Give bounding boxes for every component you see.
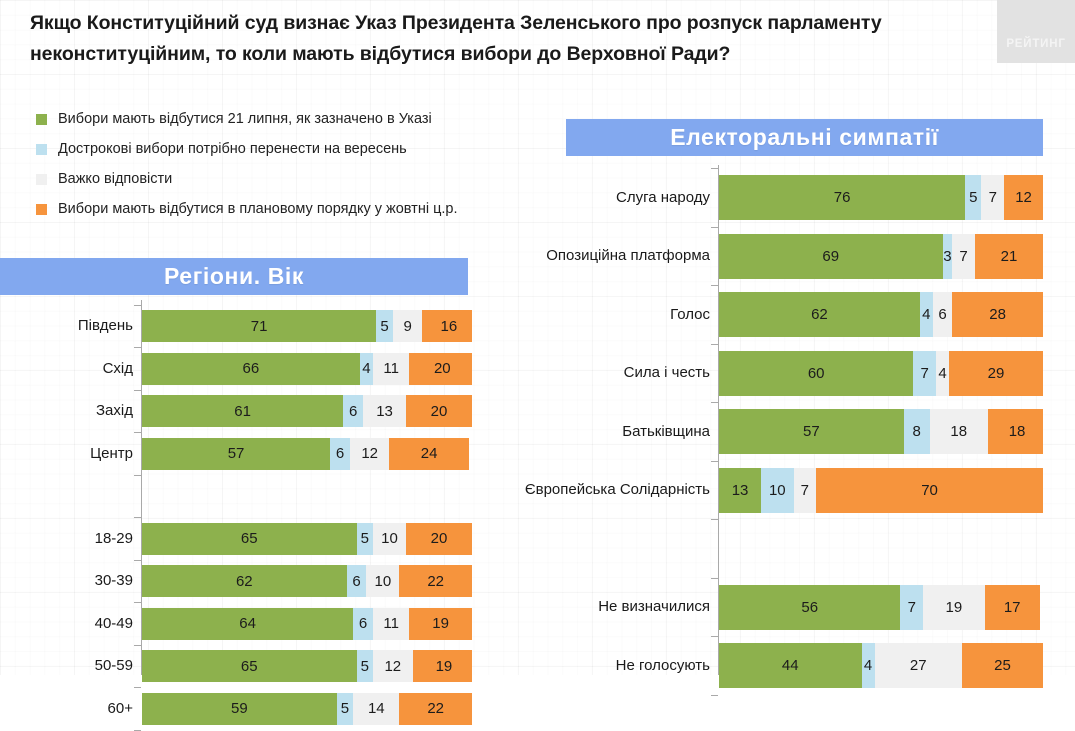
bar-segment: 18 [930, 409, 988, 454]
bar-segment-value: 25 [994, 657, 1011, 674]
bar-segment: 5 [357, 650, 374, 682]
bar-segment: 20 [409, 353, 472, 385]
axis-tick [711, 695, 718, 696]
bar-segment-value: 65 [241, 530, 258, 547]
axis-tick [134, 390, 141, 391]
legend-item: Вибори мають відбутися в плановому поряд… [36, 194, 506, 224]
bar-segment: 7 [952, 234, 975, 279]
axis-tick [711, 168, 718, 169]
category-label: 60+ [0, 701, 133, 716]
bar-segment: 62 [142, 565, 347, 597]
stacked-bar: 1310770 [719, 468, 1043, 513]
bar-segment-value: 19 [946, 599, 963, 616]
bar-segment-value: 8 [912, 423, 920, 440]
bar-segment: 27 [875, 643, 962, 688]
stacked-bar: 6551020 [142, 523, 472, 555]
axis-tick [711, 461, 718, 462]
rating-logo-label: РЕЙТИНГ [997, 38, 1075, 50]
bar-segment-value: 12 [361, 445, 378, 462]
category-label: Опозиційна платформа [500, 248, 710, 263]
bar-segment-value: 62 [811, 306, 828, 323]
legend-swatch-icon [36, 114, 47, 125]
bar-segment-value: 5 [361, 530, 369, 547]
bar-segment-value: 18 [950, 423, 967, 440]
bar-segment: 12 [350, 438, 390, 470]
bar-segment-value: 19 [432, 615, 449, 632]
bar-segment: 4 [920, 292, 933, 337]
bar-segment: 44 [719, 643, 862, 688]
bar-segment-value: 76 [834, 189, 851, 206]
bar-segment: 25 [962, 643, 1043, 688]
stacked-bar: 6551219 [142, 650, 472, 682]
section-banner-electoral-sympathies-label: Електоральні симпатії [670, 124, 939, 151]
bar-segment-value: 44 [782, 657, 799, 674]
bar-segment: 10 [761, 468, 793, 513]
bar-segment: 18 [988, 409, 1043, 454]
bar-segment: 20 [406, 395, 472, 427]
bar-segment-value: 12 [384, 658, 401, 675]
category-label: 40-49 [0, 616, 133, 631]
bar-segment: 13 [363, 395, 406, 427]
legend-item: Важко відповісти [36, 164, 506, 194]
bar-segment-value: 65 [241, 658, 258, 675]
bar-segment-value: 4 [362, 360, 370, 377]
bar-segment: 7 [794, 468, 817, 513]
page-title: Якщо Конституційний суд визнає Указ През… [30, 8, 990, 70]
bar-segment: 57 [142, 438, 330, 470]
legend-swatch-icon [36, 204, 47, 215]
axis-tick [134, 347, 141, 348]
bar-segment: 7 [913, 351, 936, 396]
category-label: Голос [500, 307, 710, 322]
bar-segment-value: 4 [938, 365, 946, 382]
stacked-bar: 765712 [719, 175, 1043, 220]
stacked-bar: 693721 [719, 234, 1043, 279]
bar-segment-value: 60 [808, 365, 825, 382]
axis-tick [711, 519, 718, 520]
bar-segment: 14 [353, 693, 399, 725]
bar-segment: 13 [719, 468, 761, 513]
bar-segment-value: 9 [403, 318, 411, 335]
bar-segment-value: 13 [732, 482, 749, 499]
bar-segment-value: 27 [910, 657, 927, 674]
axis-tick [711, 227, 718, 228]
chart-legend: Вибори мають відбутися 21 липня, як зазн… [36, 104, 506, 224]
bar-segment: 66 [142, 353, 360, 385]
bar-segment: 11 [373, 608, 409, 640]
bar-segment-value: 14 [368, 700, 385, 717]
bar-segment: 19 [923, 585, 985, 630]
bar-segment: 29 [949, 351, 1043, 396]
slide-stage: Якщо Конституційний суд визнає Указ През… [0, 0, 1075, 675]
bar-segment-value: 64 [239, 615, 256, 632]
legend-item-label: Вибори мають відбутися в плановому поряд… [58, 201, 458, 217]
bar-segment-value: 10 [769, 482, 786, 499]
category-label: Батьківщина [500, 424, 710, 439]
bar-segment: 60 [719, 351, 913, 396]
category-label: 30-39 [0, 573, 133, 588]
bar-segment-value: 29 [988, 365, 1005, 382]
legend-item-label: Дострокові вибори потрібно перенести на … [58, 141, 407, 157]
category-label: 18-29 [0, 531, 133, 546]
bar-segment-value: 12 [1015, 189, 1032, 206]
stacked-bar: 5671917 [719, 585, 1043, 630]
bar-segment-value: 3 [943, 248, 951, 265]
bar-segment-value: 20 [434, 360, 451, 377]
bar-segment: 6 [353, 608, 373, 640]
stacked-bar: 6461119 [142, 608, 472, 640]
bar-segment: 4 [862, 643, 875, 688]
chart-electoral-sympathies: Слуга народу765712Опозиційна платформа69… [500, 165, 1075, 675]
bar-segment: 10 [373, 523, 406, 555]
bar-segment: 56 [719, 585, 900, 630]
axis-tick [134, 305, 141, 306]
bar-segment: 4 [936, 351, 949, 396]
bar-segment: 62 [719, 292, 920, 337]
bar-segment-value: 22 [427, 573, 444, 590]
bar-segment: 11 [373, 353, 409, 385]
legend-item-label: Важко відповісти [58, 171, 172, 187]
category-label: Слуга народу [500, 190, 710, 205]
bar-segment: 22 [399, 693, 472, 725]
bar-segment-value: 4 [922, 306, 930, 323]
bar-segment: 6 [347, 565, 367, 597]
bar-segment: 7 [900, 585, 923, 630]
bar-segment: 6 [330, 438, 350, 470]
bar-segment-value: 16 [441, 318, 458, 335]
bar-segment: 21 [975, 234, 1043, 279]
axis-tick [711, 285, 718, 286]
bar-segment: 5 [376, 310, 393, 342]
category-label: Захід [0, 403, 133, 418]
section-banner-regions-age: Регіони. Вік [0, 258, 468, 295]
bar-segment: 5 [357, 523, 374, 555]
stacked-bar: 5781818 [719, 409, 1043, 454]
bar-segment: 10 [366, 565, 399, 597]
stacked-bar: 6641120 [142, 353, 472, 385]
bar-segment: 12 [373, 650, 413, 682]
bar-segment: 16 [422, 310, 472, 342]
bar-segment-value: 19 [436, 658, 453, 675]
bar-segment: 59 [142, 693, 337, 725]
stacked-bar: 607429 [719, 351, 1043, 396]
bar-segment-value: 70 [921, 482, 938, 499]
section-banner-electoral-sympathies: Електоральні симпатії [566, 119, 1043, 156]
bar-segment-value: 7 [801, 482, 809, 499]
bar-segment: 7 [981, 175, 1004, 220]
bar-segment-value: 11 [383, 615, 399, 632]
bar-segment-value: 11 [383, 360, 399, 377]
bar-segment: 24 [389, 438, 468, 470]
bar-segment: 22 [399, 565, 472, 597]
bar-segment-value: 18 [1009, 423, 1026, 440]
category-label: Сила і честь [500, 365, 710, 380]
bar-segment: 3 [943, 234, 953, 279]
bar-segment-value: 5 [380, 318, 388, 335]
bar-segment: 76 [719, 175, 965, 220]
bar-segment-value: 7 [921, 365, 929, 382]
axis-tick [134, 517, 141, 518]
legend-item-label: Вибори мають відбутися 21 липня, як зазн… [58, 111, 432, 127]
bar-segment: 5 [337, 693, 354, 725]
axis-tick [711, 636, 718, 637]
bar-segment-value: 5 [361, 658, 369, 675]
stacked-bar: 5761224 [142, 438, 472, 470]
bar-segment-value: 28 [989, 306, 1006, 323]
bar-segment: 69 [719, 234, 943, 279]
bar-segment: 9 [393, 310, 423, 342]
bar-segment-value: 66 [243, 360, 260, 377]
axis-tick [711, 402, 718, 403]
bar-segment: 6 [933, 292, 952, 337]
bar-segment: 12 [1004, 175, 1043, 220]
bar-segment: 64 [142, 608, 353, 640]
axis-tick [134, 475, 141, 476]
bar-segment-value: 10 [381, 530, 398, 547]
stacked-bar: 6261022 [142, 565, 472, 597]
axis-tick [134, 432, 141, 433]
bar-segment: 20 [406, 523, 472, 555]
bar-segment: 70 [816, 468, 1043, 513]
bar-segment-value: 5 [341, 700, 349, 717]
bar-segment-value: 61 [234, 403, 251, 420]
bar-segment-value: 7 [989, 189, 997, 206]
category-label: Південь [0, 318, 133, 333]
bar-segment-value: 20 [431, 530, 448, 547]
bar-segment-value: 20 [431, 403, 448, 420]
stacked-bar: 715916 [142, 310, 472, 342]
axis-tick [134, 560, 141, 561]
stacked-bar: 624628 [719, 292, 1043, 337]
bar-segment: 8 [904, 409, 930, 454]
bar-segment: 28 [952, 292, 1043, 337]
bar-segment: 61 [142, 395, 343, 427]
category-label: Центр [0, 446, 133, 461]
bar-segment-value: 59 [231, 700, 248, 717]
bar-segment-value: 7 [908, 599, 916, 616]
section-banner-regions-age-label: Регіони. Вік [164, 263, 304, 290]
stacked-bar: 4442725 [719, 643, 1043, 688]
axis-tick [711, 578, 718, 579]
bar-segment-value: 22 [427, 700, 444, 717]
rating-logo: РЕЙТИНГ [997, 0, 1075, 63]
bar-segment-value: 56 [801, 599, 818, 616]
axis-tick [134, 687, 141, 688]
bar-segment-value: 62 [236, 573, 253, 590]
bar-segment-value: 57 [803, 423, 820, 440]
bar-segment: 71 [142, 310, 376, 342]
category-label: Не визначилися [500, 599, 710, 614]
category-label: Схід [0, 361, 133, 376]
bar-segment-value: 6 [352, 573, 360, 590]
page-title-line-1: Якщо Конституційний суд визнає Указ През… [30, 8, 990, 39]
page-title-line-2: неконституційним, то коли мають відбутис… [30, 39, 990, 70]
bar-segment: 17 [985, 585, 1040, 630]
bar-segment-value: 24 [421, 445, 438, 462]
bar-segment-value: 10 [375, 573, 392, 590]
axis-tick [711, 344, 718, 345]
bar-segment-value: 71 [251, 318, 268, 335]
bar-segment: 19 [413, 650, 472, 682]
legend-item: Вибори мають відбутися 21 липня, як зазн… [36, 104, 506, 134]
bar-segment-value: 6 [938, 306, 946, 323]
bar-segment-value: 17 [1004, 599, 1021, 616]
bar-segment: 65 [142, 523, 357, 555]
category-label: Не голосують [500, 658, 710, 673]
bar-segment-value: 21 [1001, 248, 1018, 265]
legend-swatch-icon [36, 174, 47, 185]
bar-segment-value: 7 [959, 248, 967, 265]
bar-segment-value: 13 [376, 403, 393, 420]
bar-segment: 65 [142, 650, 357, 682]
bar-segment: 57 [719, 409, 904, 454]
axis-tick [134, 645, 141, 646]
bar-segment-value: 4 [864, 657, 872, 674]
legend-item: Дострокові вибори потрібно перенести на … [36, 134, 506, 164]
chart-regions-age: Південь715916Схід6641120Захід6161320Цент… [0, 300, 480, 675]
bar-segment-value: 5 [969, 189, 977, 206]
stacked-bar: 6161320 [142, 395, 472, 427]
bar-segment-value: 6 [349, 403, 357, 420]
bar-segment: 19 [409, 608, 472, 640]
bar-segment-value: 69 [822, 248, 839, 265]
category-label: 50-59 [0, 658, 133, 673]
bar-segment: 4 [360, 353, 373, 385]
axis-tick [134, 602, 141, 603]
legend-swatch-icon [36, 144, 47, 155]
bar-segment-value: 57 [228, 445, 245, 462]
category-label: Європейська Солідарність [500, 482, 710, 497]
bar-segment: 5 [965, 175, 981, 220]
bar-segment-value: 6 [336, 445, 344, 462]
bar-segment-value: 6 [359, 615, 367, 632]
bar-segment: 6 [343, 395, 363, 427]
stacked-bar: 5951422 [142, 693, 472, 725]
